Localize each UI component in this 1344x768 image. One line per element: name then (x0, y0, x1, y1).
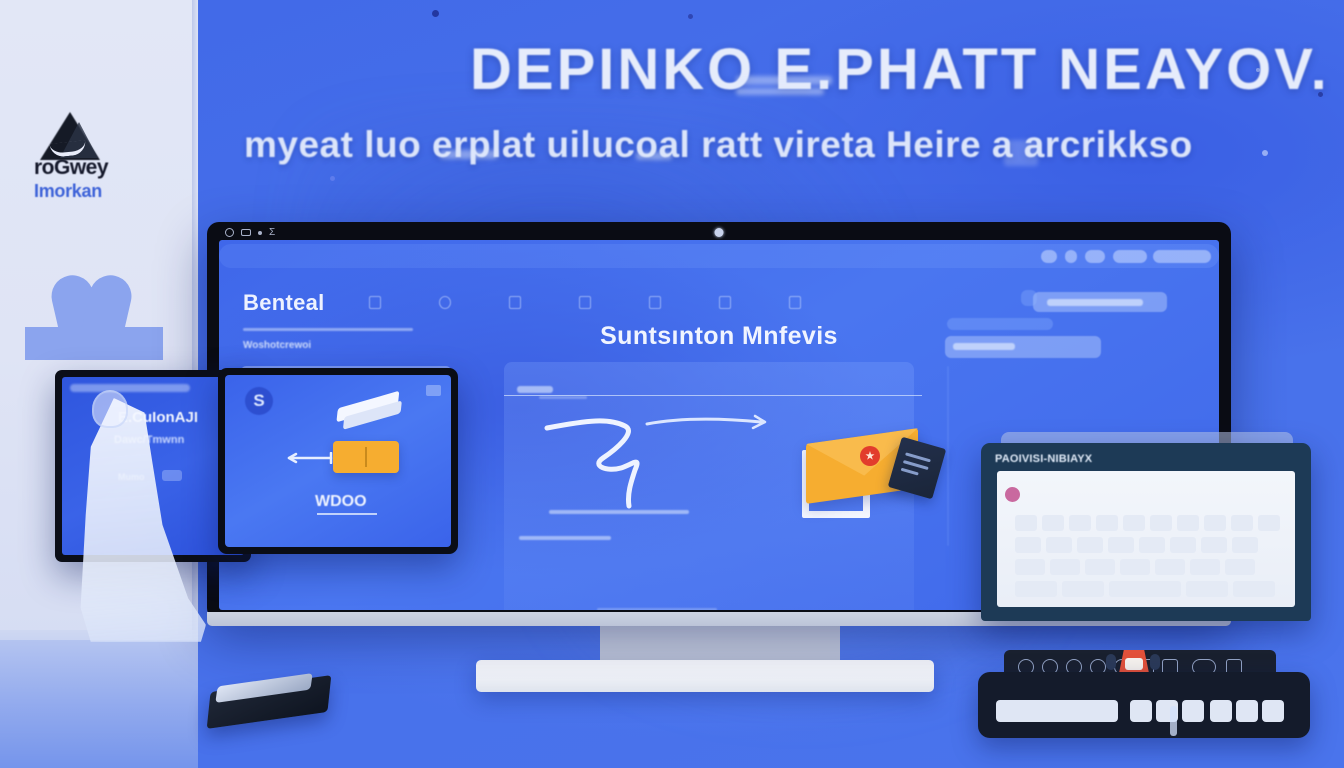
mascot-ear-right (1150, 654, 1160, 670)
bezel-icon-group: Σ (225, 228, 278, 237)
right-divider (947, 366, 949, 546)
laptop-topbar (70, 384, 190, 392)
amber-card (333, 441, 399, 473)
art-line-2 (519, 536, 611, 540)
page-subtitle: myeat luo erplat uilucoal ratt vireta He… (244, 124, 1344, 166)
subline-smear-2 (636, 152, 672, 160)
laptop-chip (162, 470, 182, 481)
art-line-4 (597, 608, 717, 610)
mascot-ear-left (1106, 654, 1116, 670)
art-line-1 (549, 510, 689, 514)
link-icon[interactable] (649, 296, 661, 309)
screen-brand: Benteal (243, 290, 325, 316)
subline-smear-3 (1004, 140, 1038, 166)
key-group-2[interactable] (1210, 700, 1284, 722)
screen-nav[interactable] (369, 296, 801, 309)
folded-paper-icon (333, 380, 412, 440)
keyboard-bar[interactable] (978, 672, 1310, 738)
plant-decoration (25, 275, 165, 350)
left-arrow-icon (287, 451, 335, 463)
user-icon[interactable] (439, 296, 451, 309)
window-title: PAOIVISI-NIBIAYX (995, 453, 1092, 465)
red-seal-icon: ★ (860, 446, 880, 466)
figure-head (92, 390, 128, 428)
webcam-icon (715, 228, 724, 237)
right-row-3-text (953, 343, 1015, 350)
brand-name-line2: Imorkan (34, 181, 164, 202)
flag-icon[interactable] (509, 296, 521, 309)
headline-smear-1 (736, 76, 832, 85)
subline-smear-1 (440, 150, 498, 159)
monitor-stand-base (476, 660, 934, 692)
art-line-3 (539, 396, 587, 399)
chart-icon[interactable] (579, 296, 591, 309)
x-icon: Σ (269, 228, 278, 237)
tablet-label: WDOO (315, 493, 367, 511)
joystick-icon[interactable] (1170, 706, 1177, 736)
key-row-3 (1015, 559, 1255, 575)
pink-status-dot (1005, 487, 1020, 502)
tablet-corner-icon[interactable] (426, 385, 441, 396)
screen-topbar[interactable] (219, 244, 1219, 268)
card-label (517, 386, 553, 393)
folder-icon[interactable] (369, 296, 381, 309)
mountain-triangle-icon (40, 112, 100, 162)
dot-icon (258, 231, 262, 235)
key-row-2 (1015, 537, 1258, 553)
key-group-1[interactable] (1130, 700, 1204, 722)
key-row-4 (1015, 581, 1275, 597)
panel-bottom-fade (0, 630, 198, 768)
slash-icon[interactable] (719, 296, 731, 309)
page-title: DEPINKO E.PHATT NEAYOV. (470, 36, 1344, 103)
right-row-2 (947, 318, 1053, 330)
rect-icon (241, 229, 251, 236)
circle-icon (225, 228, 234, 237)
illustration-canvas: roGwey Imorkan DEPINKO E.PHATT NEAYOV. m… (0, 0, 1344, 768)
tablet-label-underline (317, 513, 377, 515)
preview-window: PAOIVISI-NIBIAYX (981, 443, 1311, 621)
right-row-1-text (1047, 299, 1143, 306)
right-row-1-icon (1021, 290, 1037, 306)
tablet-device: S WDOO (218, 368, 458, 554)
tablet-logo: S (245, 387, 273, 415)
envelope-icon: ★ (798, 428, 938, 530)
tag-icon[interactable] (789, 296, 801, 309)
brand-name-line1: roGwey (34, 156, 164, 180)
tablet-screen: S WDOO (225, 375, 451, 547)
key-row-1 (1015, 515, 1280, 531)
headline-smear-2 (736, 88, 824, 95)
mascot-face (1125, 658, 1143, 670)
spacebar-key[interactable] (996, 700, 1118, 722)
brand-logo: roGwey Imorkan (34, 112, 164, 202)
